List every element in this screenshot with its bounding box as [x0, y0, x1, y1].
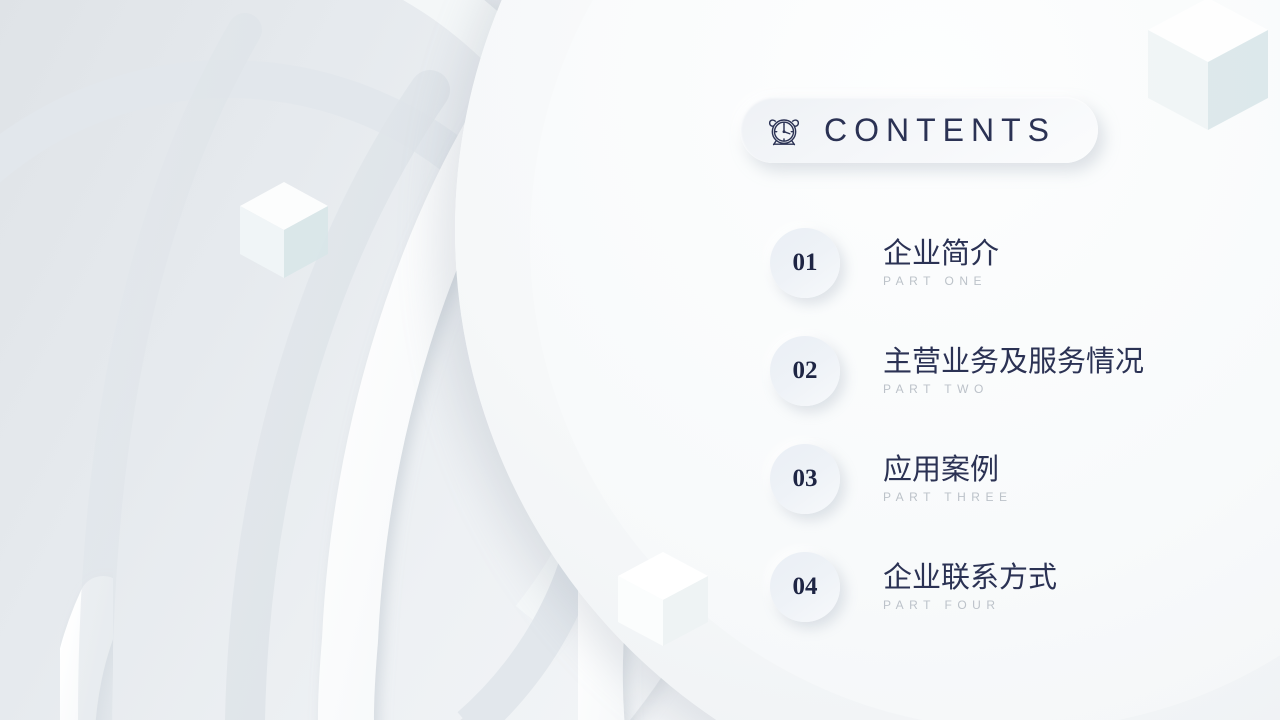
toc-number-badge: 02	[770, 336, 840, 406]
table-of-contents: 01 企业简介 PART ONE 02 主营业务及服务情况 PART TWO	[770, 228, 1240, 660]
toc-subtitle: PART ONE	[883, 274, 999, 288]
toc-title: 企业简介	[883, 236, 999, 272]
presentation-slide: CONTENTS 01 企业简介 PART ONE 02 主营业务及服务情况	[0, 0, 1280, 720]
toc-item-01[interactable]: 01 企业简介 PART ONE	[770, 228, 1240, 336]
toc-number-badge: 04	[770, 552, 840, 622]
toc-number: 01	[793, 249, 818, 277]
toc-text-group: 主营业务及服务情况 PART TWO	[883, 344, 1144, 396]
toc-number-badge: 01	[770, 228, 840, 298]
toc-item-03[interactable]: 03 应用案例 PART THREE	[770, 444, 1240, 552]
toc-text-group: 企业简介 PART ONE	[883, 236, 999, 288]
contents-title: CONTENTS	[824, 112, 1056, 149]
toc-title: 企业联系方式	[883, 560, 1057, 596]
toc-subtitle: PART TWO	[883, 382, 1144, 396]
toc-item-04[interactable]: 04 企业联系方式 PART FOUR	[770, 552, 1240, 660]
toc-item-02[interactable]: 02 主营业务及服务情况 PART TWO	[770, 336, 1240, 444]
toc-text-group: 应用案例 PART THREE	[883, 452, 1012, 504]
toc-title: 应用案例	[883, 452, 1012, 488]
contents-header-pill: CONTENTS	[740, 97, 1098, 163]
toc-title: 主营业务及服务情况	[883, 344, 1144, 380]
toc-number: 04	[793, 573, 818, 601]
toc-text-group: 企业联系方式 PART FOUR	[883, 560, 1057, 612]
toc-number: 03	[793, 465, 818, 493]
slide-content: CONTENTS 01 企业简介 PART ONE 02 主营业务及服务情况	[0, 0, 1280, 720]
toc-subtitle: PART THREE	[883, 490, 1012, 504]
toc-number-badge: 03	[770, 444, 840, 514]
toc-subtitle: PART FOUR	[883, 598, 1057, 612]
alarm-clock-icon	[764, 110, 804, 150]
toc-number: 02	[793, 357, 818, 385]
